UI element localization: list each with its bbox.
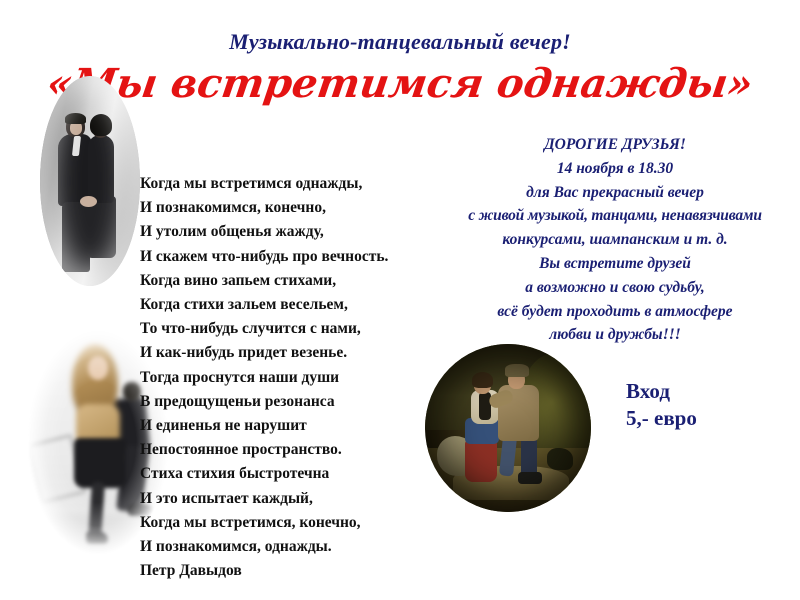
invitation-block: ДОРОГИЕ ДРУЗЬЯ! 14 ноября в 18.30 для Ва… <box>430 133 800 347</box>
entrance-label: Вход <box>626 378 697 405</box>
oil-painting <box>425 344 591 512</box>
poem-block: Когда мы встретимся однажды, И познакоми… <box>140 172 460 583</box>
dancer-woman-shoe-shape <box>86 532 108 544</box>
poem-line: И это испытает каждый, <box>140 487 460 511</box>
dancer-man-head-shape <box>123 382 141 401</box>
poem-line: Когда мы встретимся, конечно, <box>140 511 460 535</box>
entrance-amount: 5,- евро <box>626 405 697 432</box>
invitation-line: с живой музыкой, танцами, ненавязчивами <box>430 204 800 228</box>
poem-line: И познакомимся, конечно, <box>140 196 460 220</box>
poem-line: Непостоянное пространство. <box>140 438 460 462</box>
poem-line: В предощущеньи резонанса <box>140 390 460 414</box>
poem-line: Тогда проснутся наши души <box>140 366 460 390</box>
invitation-heading: ДОРОГИЕ ДРУЗЬЯ! <box>430 133 800 157</box>
poster-canvas: Музыкально-танцевальный вечер! «Мы встре… <box>0 0 800 600</box>
poem-line: И скажем что-нибудь про вечность. <box>140 245 460 269</box>
painting-vignette <box>425 344 591 512</box>
poem-line: И единенья не нарушит <box>140 414 460 438</box>
dancer-woman-face-shape <box>88 356 108 380</box>
poem-line: То что-нибудь случится с нами, <box>140 317 460 341</box>
invitation-line: Вы встретите друзей <box>430 252 800 276</box>
poem-line: Когда мы встретимся однажды, <box>140 172 460 196</box>
poem-author: Петр Давыдов <box>140 559 460 583</box>
poem-line: Стиха стихия быстротечна <box>140 462 460 486</box>
poster-title-main: Музыкально-танцевальный вечер! <box>0 29 800 55</box>
poem-line: И познакомимся, однажды. <box>140 535 460 559</box>
poem-line: И как-нибудь придет везенье. <box>140 341 460 365</box>
poem-line: И утолим общенья жажду, <box>140 220 460 244</box>
photo-vignette <box>40 76 140 286</box>
invitation-datetime: 14 ноября в 18.30 <box>430 157 800 181</box>
couple-photo <box>40 76 140 286</box>
invitation-line: для Вас прекрасный вечер <box>430 181 800 205</box>
invitation-line: всё будет проходить в атмосфере <box>430 300 800 324</box>
dancer-woman-skirt-shape <box>74 438 126 488</box>
poem-line: Когда вино запьем стихами, <box>140 269 460 293</box>
invitation-line: конкурсами, шампанским и т. д. <box>430 228 800 252</box>
invitation-line: а возможно и свою судьбу, <box>430 276 800 300</box>
poem-line: Когда стихи зальем весельем, <box>140 293 460 317</box>
entrance-price-block: Вход 5,- евро <box>626 378 697 432</box>
